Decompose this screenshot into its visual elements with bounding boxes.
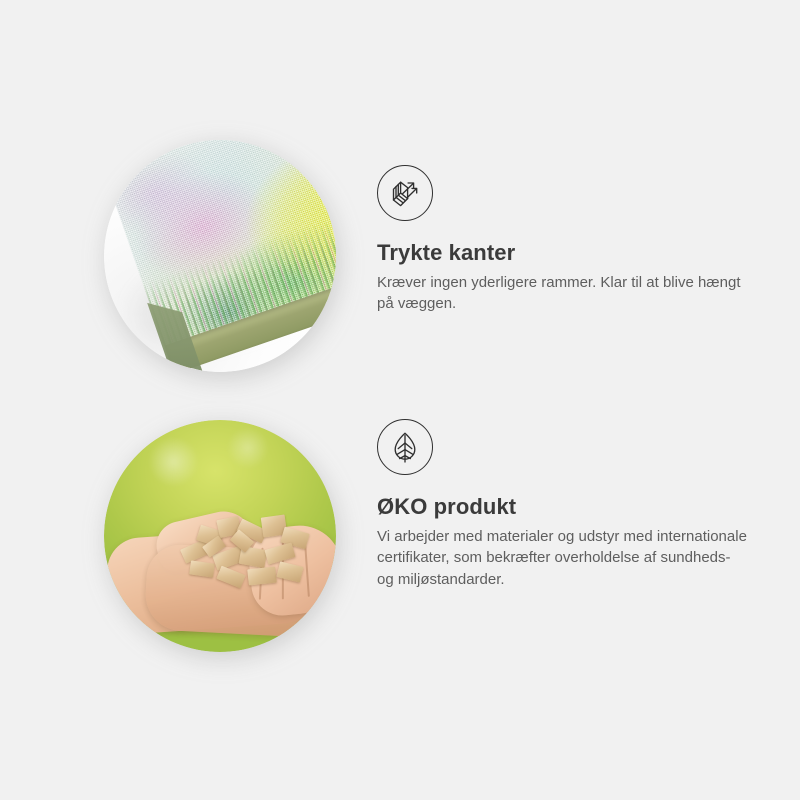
printed-edges-glyph — [388, 176, 422, 210]
wood-chip — [247, 567, 277, 586]
canvas-print-corner-photo — [104, 140, 336, 372]
leaf-icon — [377, 419, 433, 475]
feature-title: Trykte kanter — [377, 241, 777, 265]
product-feature-panel: Trykte kanter Kræver ingen yderligere ra… — [0, 0, 800, 800]
feature-info-printed-edges: Trykte kanter Kræver ingen yderligere ra… — [377, 165, 777, 315]
wood-chips-pile — [178, 514, 318, 592]
wood-chip — [216, 566, 245, 589]
feature-section-printed-edges: Trykte kanter Kræver ingen yderligere ra… — [0, 120, 800, 390]
feature-description: Vi arbejder med materialer og udstyr med… — [377, 526, 749, 590]
feature-description: Kræver ingen yderligere rammer. Klar til… — [377, 272, 749, 315]
eco-wood-chips-photo — [104, 420, 336, 652]
canvas-photo-inner — [104, 140, 336, 372]
feature-title: ØKO produkt — [377, 495, 777, 519]
eco-photo-inner — [104, 420, 336, 652]
wood-chip — [276, 561, 303, 582]
printed-edges-icon — [377, 165, 433, 221]
leaf-glyph — [388, 430, 422, 464]
wood-chip — [189, 560, 215, 577]
feature-info-eco-product: ØKO produkt Vi arbejder med materialer o… — [377, 419, 777, 590]
feature-section-eco-product: ØKO produkt Vi arbejder med materialer o… — [0, 400, 800, 670]
